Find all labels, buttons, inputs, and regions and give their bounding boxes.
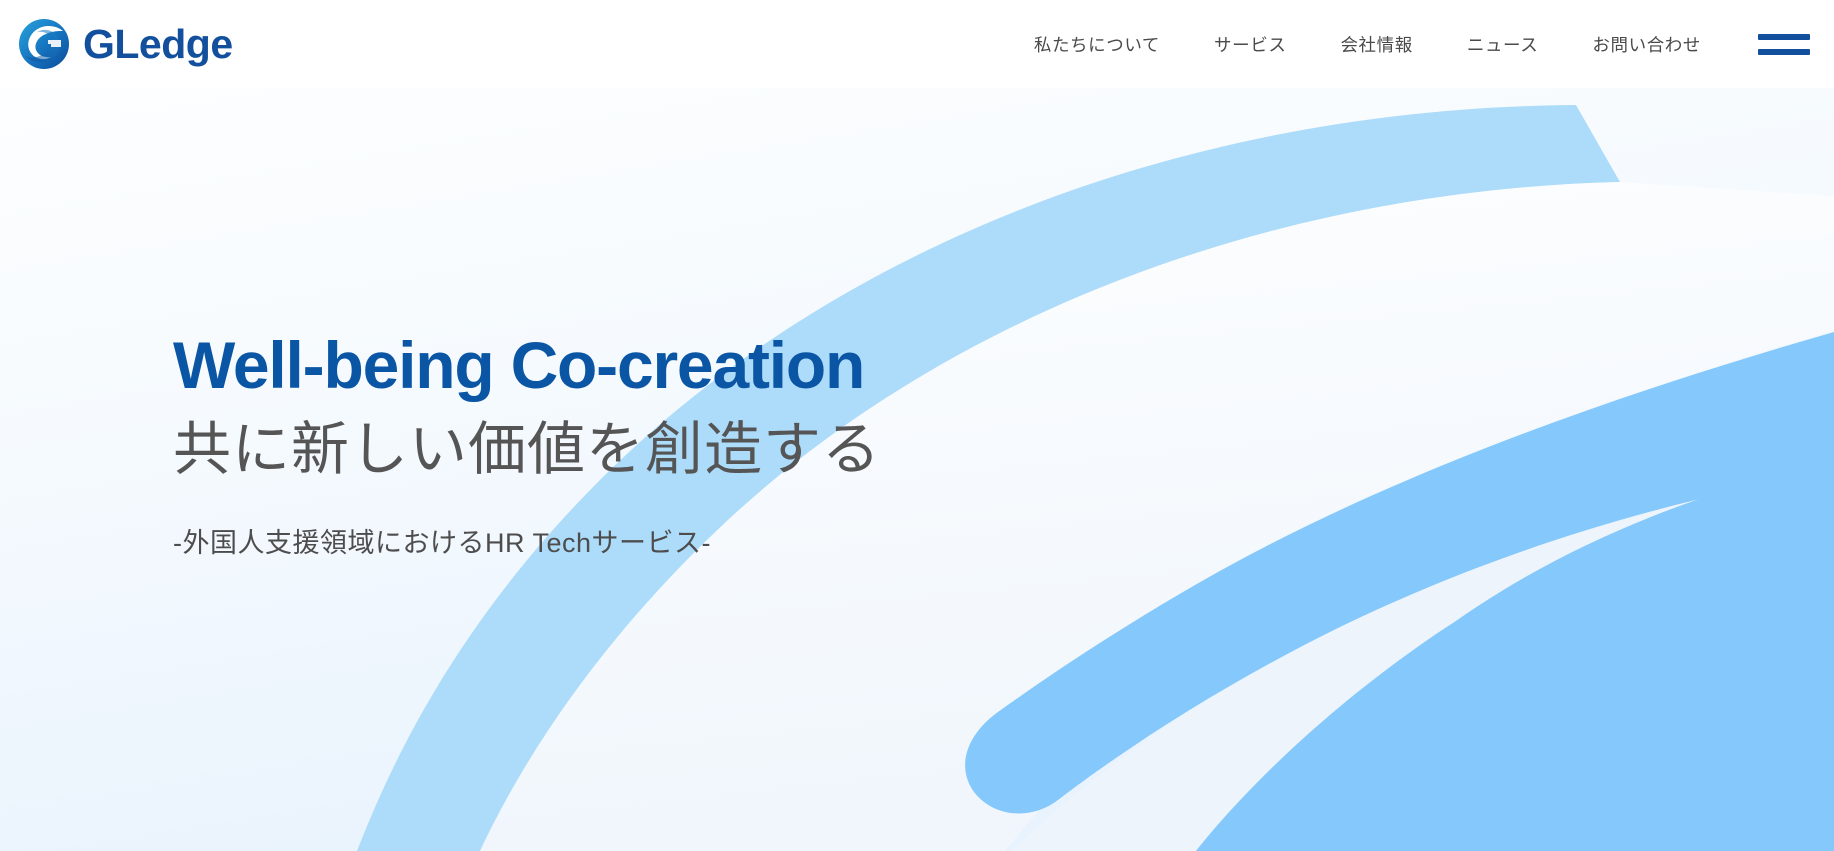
- brand-wordmark: GLedge: [83, 24, 233, 65]
- site-header: GLedge 私たちについて サービス 会社情報 ニュース お問い合わせ: [0, 0, 1834, 88]
- nav-item-about[interactable]: 私たちについて: [1007, 32, 1187, 57]
- main-navigation: 私たちについて サービス 会社情報 ニュース お問い合わせ: [1007, 28, 1834, 60]
- hero-subtitle: 共に新しい価値を創造する: [173, 415, 881, 485]
- gledge-swirl-logo-icon: [18, 18, 70, 70]
- hamburger-menu-icon[interactable]: [1758, 28, 1810, 60]
- hamburger-bar-bottom: [1758, 49, 1810, 55]
- nav-item-company[interactable]: 会社情報: [1313, 32, 1439, 57]
- nav-item-news[interactable]: ニュース: [1440, 32, 1566, 57]
- brand-logo[interactable]: GLedge: [18, 18, 233, 70]
- hero-tagline: -外国人支援領域におけるHR Techサービス-: [173, 521, 881, 560]
- hero-copy-block: Well-being Co-creation 共に新しい価値を創造する -外国人…: [173, 330, 881, 560]
- nav-item-service[interactable]: サービス: [1187, 32, 1313, 57]
- hero-title: Well-being Co-creation: [173, 330, 881, 401]
- landing-page: GLedge 私たちについて サービス 会社情報 ニュース お問い合わせ Wel…: [0, 0, 1834, 851]
- nav-item-contact[interactable]: お問い合わせ: [1565, 32, 1728, 57]
- hamburger-bar-top: [1758, 34, 1810, 40]
